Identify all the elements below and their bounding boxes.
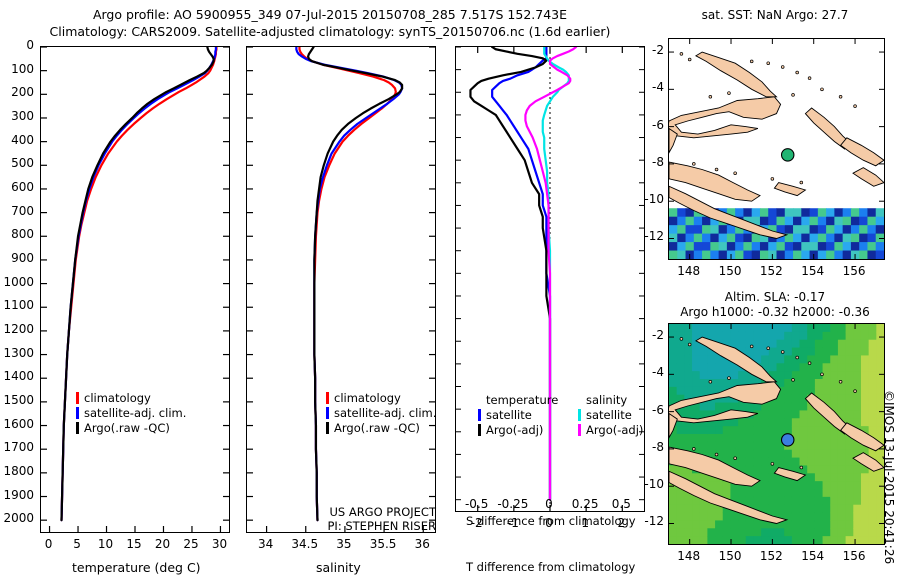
depth-tick-label: 1500 xyxy=(0,393,34,407)
axis-tick-label: -0.25 xyxy=(497,497,528,511)
sla-map xyxy=(668,323,885,545)
depth-tick-label: 100 xyxy=(0,62,34,76)
title-line-1: Argo profile: AO 5900955_349 07-Jul-2015… xyxy=(0,6,660,23)
depth-tick-label: 1300 xyxy=(0,346,34,360)
legend-color-swatch xyxy=(478,409,481,421)
axis-tick-label: 5 xyxy=(73,537,81,551)
axis-tick-label: 20 xyxy=(155,537,170,551)
legend-color-swatch xyxy=(76,392,79,404)
figure-title: Argo profile: AO 5900955_349 07-Jul-2015… xyxy=(0,6,660,40)
map-lat-tick-label: -6 xyxy=(638,118,664,132)
depth-tick-label: 1400 xyxy=(0,369,34,383)
legend-entry: Argo(.raw -QC) xyxy=(76,420,186,435)
sla-map-canvas xyxy=(669,324,884,544)
legend-color-swatch xyxy=(326,392,329,404)
legend-color-swatch xyxy=(478,424,481,436)
legend-label: Argo(-adj) xyxy=(486,423,543,437)
depth-tick-label: 400 xyxy=(0,133,34,147)
axis-tick-label: 34.5 xyxy=(291,537,318,551)
legend-color-swatch xyxy=(76,422,79,434)
sst-map-canvas xyxy=(669,39,884,259)
depth-tick-label: 800 xyxy=(0,227,34,241)
axis-tick-label: 35.5 xyxy=(370,537,397,551)
map-lon-tick-label: 152 xyxy=(760,264,783,278)
map-lat-tick-label: -6 xyxy=(638,403,664,417)
map-lon-tick-label: 150 xyxy=(719,549,742,563)
map-lat-tick-label: -12 xyxy=(638,229,664,243)
axis-tick-label: 0.25 xyxy=(572,497,599,511)
legend-color-swatch xyxy=(578,409,581,421)
axis-tick-label: -0.5 xyxy=(465,497,488,511)
legend-entry: Argo(-adj) xyxy=(478,422,558,437)
legend-label: Argo(.raw -QC) xyxy=(334,421,420,435)
sst-map-title: sat. SST: NaN Argo: 27.7 xyxy=(650,8,900,23)
difference-plot xyxy=(456,47,644,511)
legend-label: Argo(-adj) xyxy=(586,423,643,437)
map-lat-tick-label: -8 xyxy=(638,440,664,454)
map-lat-tick-label: -8 xyxy=(638,155,664,169)
axis-tick-label: 0.5 xyxy=(612,497,631,511)
map-lon-tick-label: 148 xyxy=(677,549,700,563)
legend-label: satellite xyxy=(486,408,532,422)
temperature-plot xyxy=(41,47,229,532)
axis-tick-label: 0 xyxy=(45,537,53,551)
legend-entry: satellite xyxy=(478,407,558,422)
legend-color-swatch xyxy=(578,424,581,436)
difference-profile-panel xyxy=(455,46,645,512)
map-lat-tick-label: -12 xyxy=(638,514,664,528)
salinity-profile-panel xyxy=(246,46,436,533)
depth-tick-label: 1600 xyxy=(0,417,34,431)
legend-entry: temperature xyxy=(478,392,558,407)
sla-map-title: Altim. SLA: -0.17 Argo h1000: -0.32 h200… xyxy=(650,290,900,320)
axis-tick-label: 25 xyxy=(183,537,198,551)
depth-tick-label: 1200 xyxy=(0,322,34,336)
map-lon-tick-label: 154 xyxy=(801,264,824,278)
legend-entry: Argo(-adj) xyxy=(578,422,643,437)
legend-color-swatch xyxy=(578,394,581,406)
title-line-2: Climatology: CARS2009. Satellite-adjuste… xyxy=(0,23,660,40)
legend-color-swatch xyxy=(326,422,329,434)
axis-tick-label: 36 xyxy=(415,537,430,551)
map-lon-tick-label: 152 xyxy=(760,549,783,563)
depth-tick-label: 2000 xyxy=(0,511,34,525)
sla-map-title-line-1: Altim. SLA: -0.17 xyxy=(650,290,900,305)
depth-tick-label: 1100 xyxy=(0,298,34,312)
map-lat-tick-label: -2 xyxy=(638,328,664,342)
sla-map-title-line-2: Argo h1000: -0.32 h2000: -0.36 xyxy=(650,305,900,320)
map-lat-tick-label: -10 xyxy=(638,192,664,206)
temperature-legend: climatologysatellite-adj. clim.Argo(.raw… xyxy=(76,390,186,435)
map-lon-tick-label: 150 xyxy=(719,264,742,278)
principal-investigator: PI: STEPHEN RISER xyxy=(296,519,436,533)
difference-legend-salinity: salinitysatelliteArgo(-adj) xyxy=(578,392,643,437)
axis-tick-label: 15 xyxy=(126,537,141,551)
imos-credit: ©IMOS 13-Jul-2015 20:41:26 xyxy=(882,390,896,564)
depth-tick-label: 600 xyxy=(0,180,34,194)
axis-tick-label: 34 xyxy=(258,537,273,551)
temperature-difference-axis-title: T difference from climatology xyxy=(466,560,635,574)
temperature-profile-panel xyxy=(40,46,230,533)
depth-tick-label: 1800 xyxy=(0,464,34,478)
legend-color-swatch xyxy=(478,394,481,406)
legend-entry: Argo(.raw -QC) xyxy=(326,420,436,435)
depth-tick-label: 1900 xyxy=(0,488,34,502)
axis-tick-label: 30 xyxy=(212,537,227,551)
project-name: US ARGO PROJECT xyxy=(296,505,436,519)
map-lat-tick-label: -2 xyxy=(638,43,664,57)
depth-tick-label: 1700 xyxy=(0,440,34,454)
legend-label: salinity xyxy=(586,393,627,407)
project-credit: US ARGO PROJECT PI: STEPHEN RISER xyxy=(296,505,436,533)
difference-legend-temperature: temperaturesatelliteArgo(-adj) xyxy=(478,392,558,437)
legend-color-swatch xyxy=(326,407,329,419)
legend-color-swatch xyxy=(76,407,79,419)
salinity-legend: climatologysatellite-adj. clim.Argo(.raw… xyxy=(326,390,436,435)
legend-entry: climatology xyxy=(76,390,186,405)
legend-label: climatology xyxy=(334,391,401,405)
depth-tick-label: 700 xyxy=(0,204,34,218)
map-lat-tick-label: -10 xyxy=(638,477,664,491)
legend-label: satellite-adj. clim. xyxy=(84,406,186,420)
axis-tick-label: 0 xyxy=(545,497,553,511)
legend-label: climatology xyxy=(84,391,151,405)
legend-entry: salinity xyxy=(578,392,643,407)
legend-label: Argo(.raw -QC) xyxy=(84,421,170,435)
legend-entry: satellite-adj. clim. xyxy=(326,405,436,420)
salinity-plot xyxy=(247,47,435,532)
legend-label: satellite xyxy=(586,408,632,422)
depth-tick-label: 900 xyxy=(0,251,34,265)
legend-entry: climatology xyxy=(326,390,436,405)
map-lon-tick-label: 156 xyxy=(843,549,866,563)
legend-label: satellite-adj. clim. xyxy=(334,406,436,420)
map-lon-tick-label: 148 xyxy=(677,264,700,278)
axis-tick-label: 10 xyxy=(98,537,113,551)
salinity-axis-title: salinity xyxy=(316,560,361,575)
depth-tick-label: 1000 xyxy=(0,275,34,289)
depth-tick-label: 0 xyxy=(0,38,34,52)
depth-tick-label: 300 xyxy=(0,109,34,123)
legend-entry: satellite xyxy=(578,407,643,422)
legend-label: temperature xyxy=(486,393,558,407)
temperature-axis-title: temperature (deg C) xyxy=(72,560,201,575)
axis-tick-label: 35 xyxy=(336,537,351,551)
salinity-difference-axis-title: S difference from climatology xyxy=(466,514,636,528)
map-lat-tick-label: -4 xyxy=(638,80,664,94)
map-lon-tick-label: 156 xyxy=(843,264,866,278)
sst-map xyxy=(668,38,885,260)
map-lat-tick-label: -4 xyxy=(638,365,664,379)
legend-entry: satellite-adj. clim. xyxy=(76,405,186,420)
depth-tick-label: 500 xyxy=(0,156,34,170)
map-lon-tick-label: 154 xyxy=(801,549,824,563)
depth-tick-label: 200 xyxy=(0,85,34,99)
